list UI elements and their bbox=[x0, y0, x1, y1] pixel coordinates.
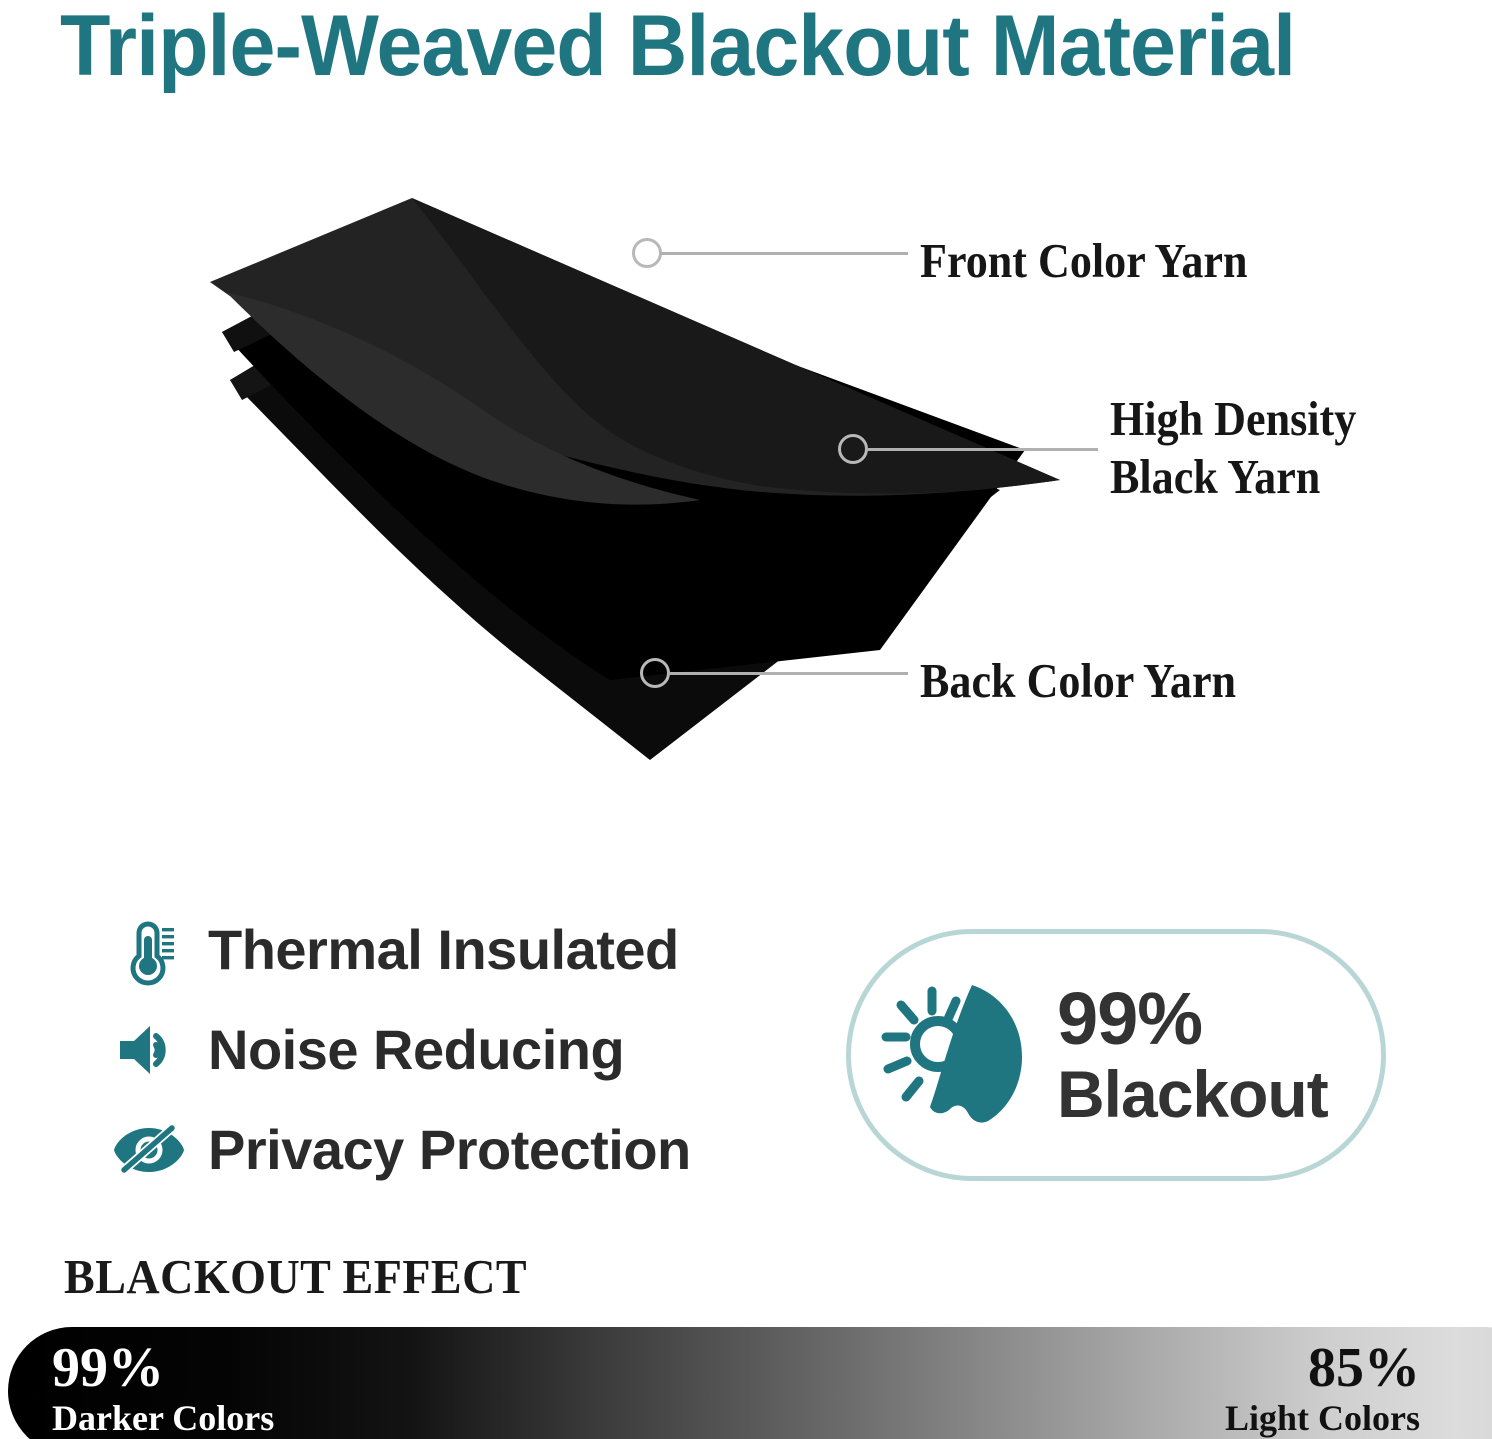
callout-dot-density bbox=[838, 434, 868, 464]
badge-word: Blackout bbox=[1057, 1058, 1328, 1130]
callout-line-back bbox=[668, 672, 908, 675]
callout-dot-back bbox=[640, 658, 670, 688]
feature-label-thermal: Thermal Insulated bbox=[208, 920, 679, 980]
blackout-badge: 99% Blackout bbox=[846, 929, 1386, 1181]
feature-label-noise: Noise Reducing bbox=[208, 1020, 624, 1080]
badge-text-group: 99% Blackout bbox=[1057, 980, 1328, 1130]
bar-stat-light-caption: Light Colors bbox=[1225, 1396, 1420, 1439]
callout-label-back: Back Color Yarn bbox=[920, 652, 1236, 710]
callout-label-density: High Density Black Yarn bbox=[1110, 390, 1356, 506]
page-title: Triple-Weaved Blackout Material bbox=[60, 0, 1404, 94]
bar-stat-darker-caption: Darker Colors bbox=[52, 1396, 274, 1439]
curtain-shape bbox=[930, 985, 1022, 1123]
callout-line-front bbox=[660, 252, 908, 255]
bar-stat-darker: 99% Darker Colors bbox=[52, 1340, 274, 1439]
callout-label-front: Front Color Yarn bbox=[920, 232, 1247, 290]
feature-label-privacy: Privacy Protection bbox=[208, 1120, 691, 1180]
feature-row-thermal: Thermal Insulated bbox=[112, 900, 812, 1000]
feature-row-privacy: Privacy Protection bbox=[112, 1100, 812, 1200]
feature-row-noise: Noise Reducing bbox=[112, 1000, 812, 1100]
callout-front-line-1: Front Color Yarn bbox=[920, 232, 1247, 290]
speaker-icon bbox=[112, 1020, 186, 1080]
badge-percent: 99% bbox=[1057, 980, 1328, 1058]
bar-stat-light: 85% Light Colors bbox=[1225, 1340, 1420, 1439]
bar-stat-darker-percent: 99% bbox=[52, 1340, 274, 1396]
bar-stat-light-percent: 85% bbox=[1225, 1340, 1420, 1396]
callout-density-line-1: High Density bbox=[1110, 390, 1356, 448]
callout-line-density bbox=[866, 448, 1098, 451]
sun-behind-curtain-icon bbox=[851, 981, 1051, 1129]
eye-slash-icon bbox=[112, 1122, 186, 1178]
callout-dot-front bbox=[632, 238, 662, 268]
callout-density-line-2: Black Yarn bbox=[1110, 448, 1356, 506]
infographic-page: Triple-Weaved Blackout Material Front Co… bbox=[0, 0, 1492, 1439]
thermometer-icon bbox=[112, 914, 186, 986]
feature-list: Thermal Insulated Noise Reducing bbox=[112, 900, 812, 1200]
blackout-effect-heading: BLACKOUT EFFECT bbox=[64, 1249, 527, 1305]
callout-back-line-1: Back Color Yarn bbox=[920, 652, 1236, 710]
